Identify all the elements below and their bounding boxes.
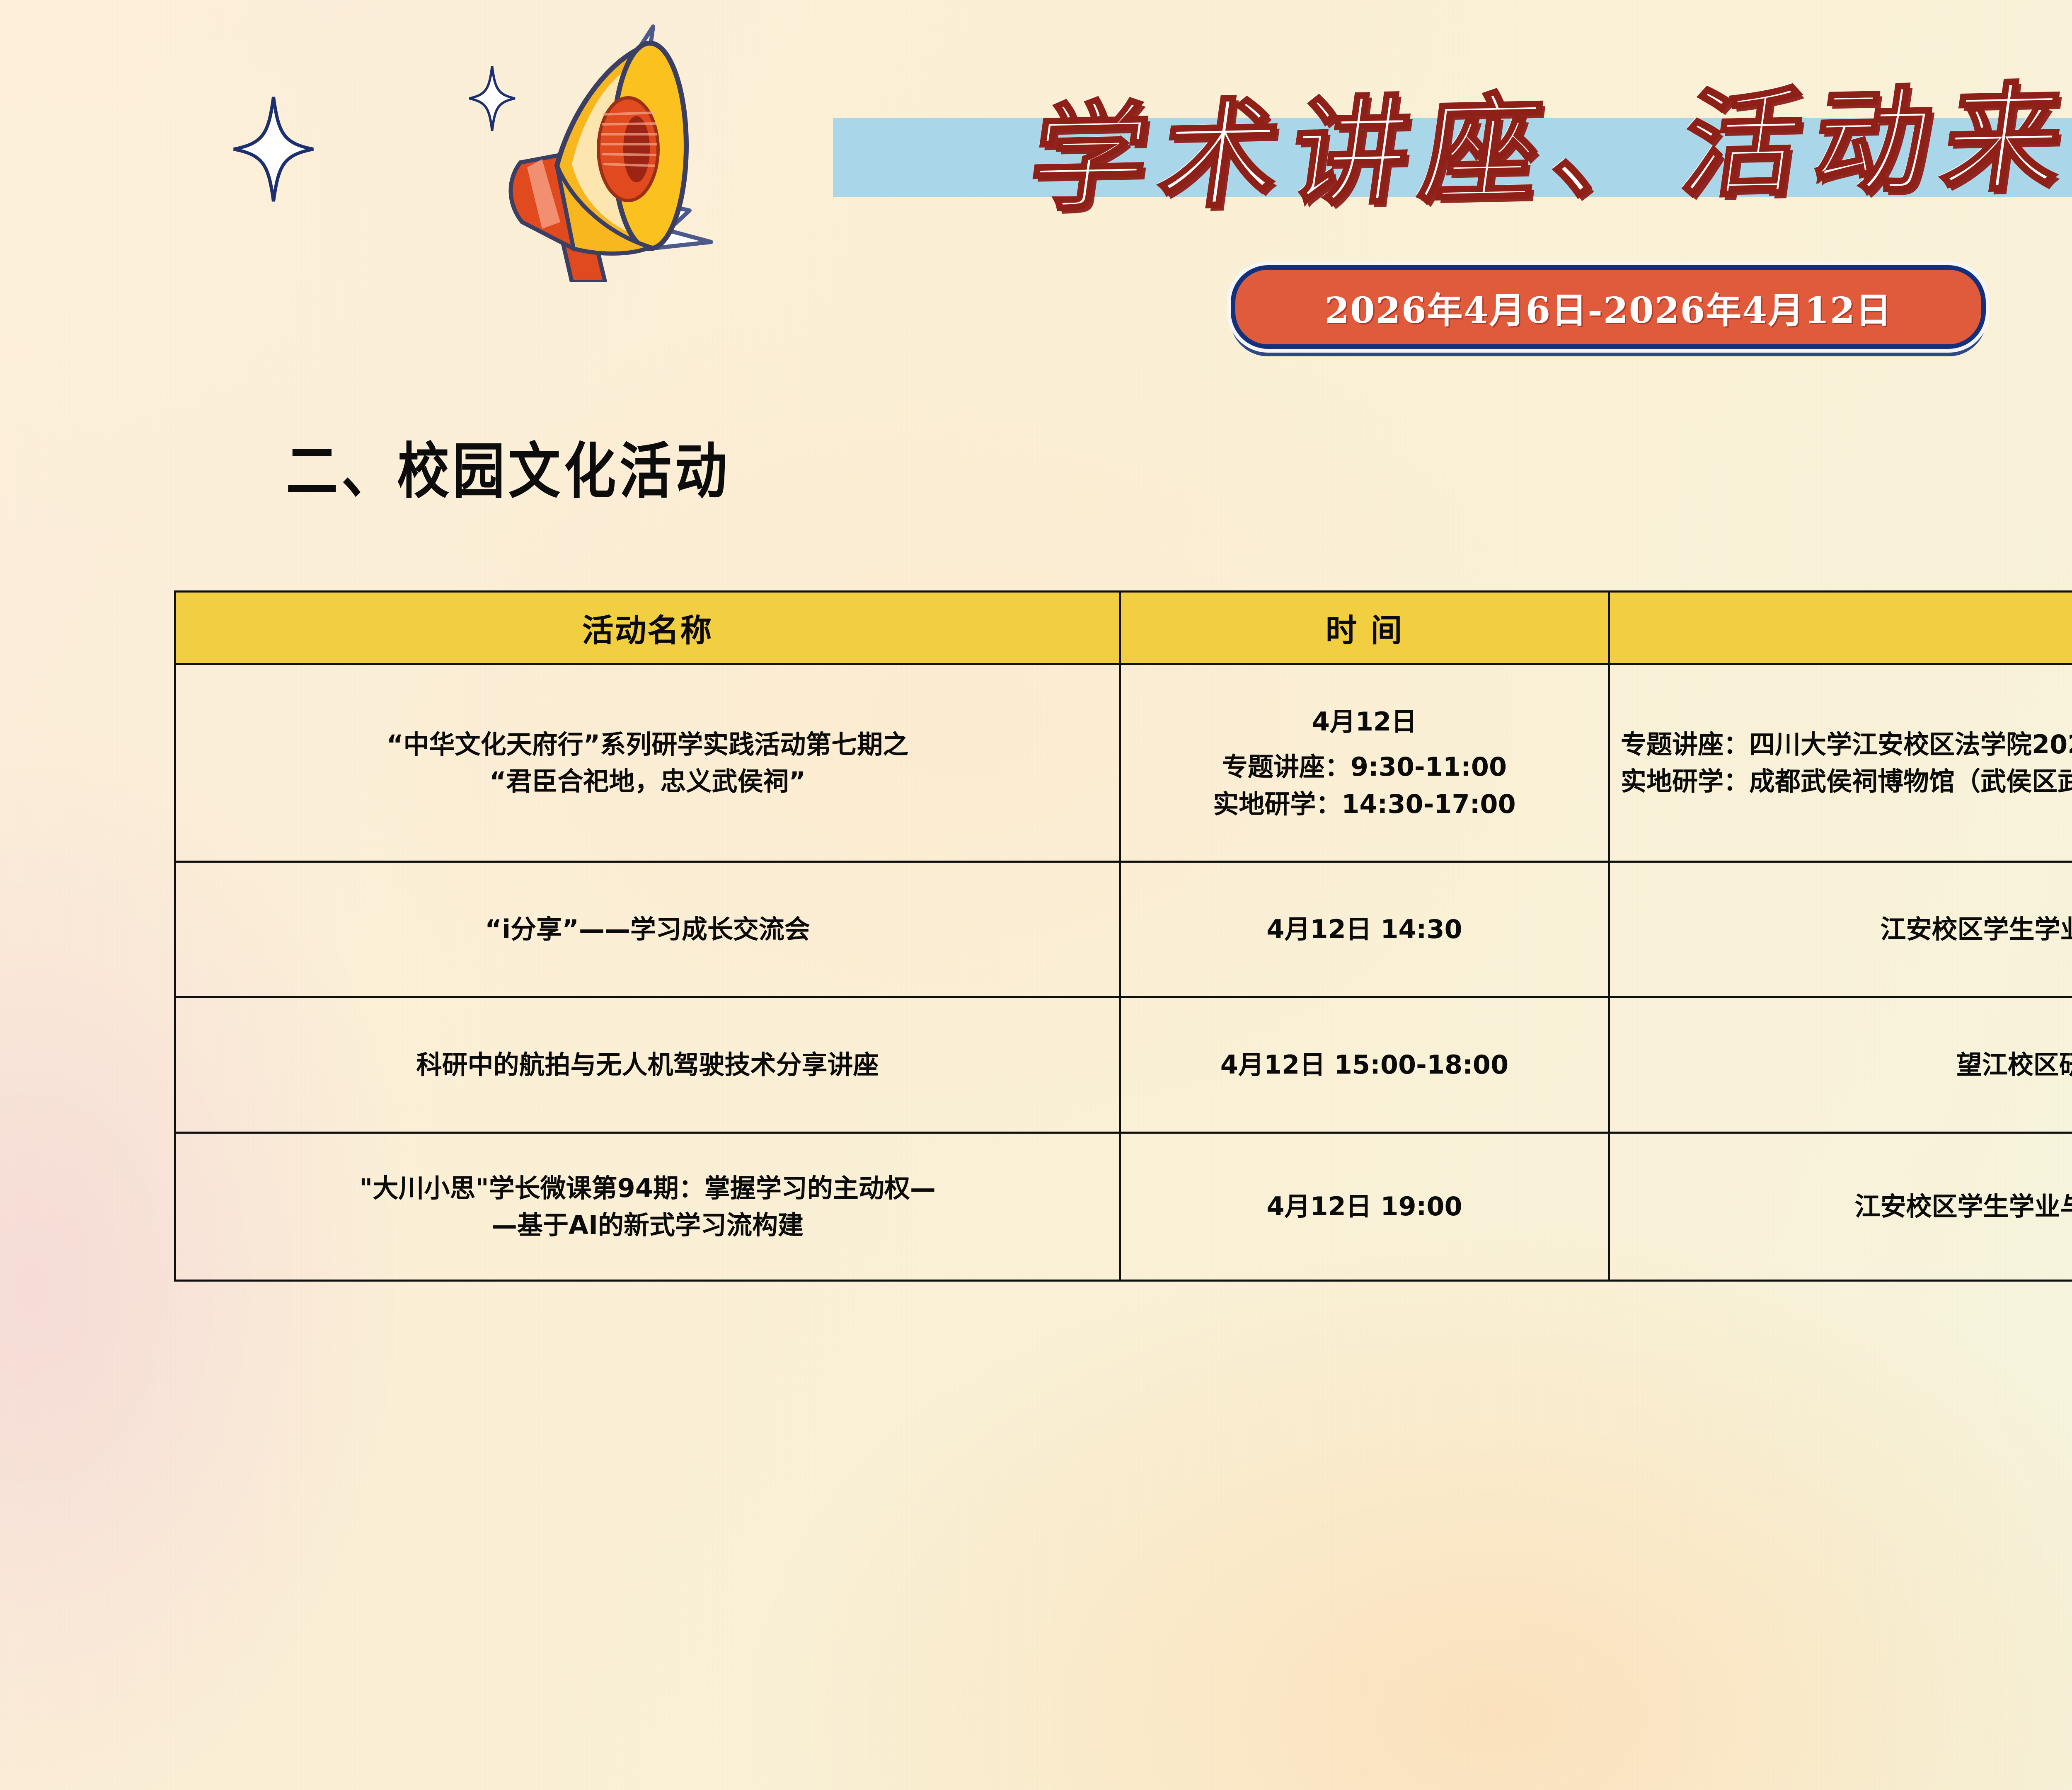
table-row: 科研中的航拍与无人机驾驶技术分享讲座 4月12日 15:00-18:00 望江校…: [175, 997, 2072, 1133]
title-block: 学术讲座、活动来啦: [812, 54, 2072, 220]
cell-location: 江安校区学生学业与发展支持中心一楼路演厅: [1609, 862, 2072, 997]
column-header-activity-name: 活动名称: [175, 592, 1120, 664]
megaphone-icon: [365, 8, 779, 273]
page-title: 学术讲座、活动来啦: [798, 37, 2072, 237]
table-row: “i分享”——学习成长交流会 4月12日 14:30 江安校区学生学业与发展支持…: [175, 862, 2072, 997]
cell-location: 专题讲座：四川大学江安校区法学院2022-1模拟仲裁庭 实地研学：成都武侯祠博物…: [1609, 664, 2072, 862]
cell-location: 江安校区学生学业与发展支持中心一楼致远报告厅: [1609, 1133, 2072, 1281]
section-heading: 二、校园文化活动: [286, 423, 731, 510]
activities-table-wrapper: 活动名称 时 间 地 点 主办单位 “中华文化天府行”系列研学实践活动第七期之 …: [174, 590, 2072, 1282]
table-row: "大川小思"学长微课第94期：掌握学习的主动权— —基于AI的新式学习流构建 4…: [175, 1133, 2072, 1281]
table-header-row: 活动名称 时 间 地 点 主办单位: [175, 592, 2072, 664]
cell-time: 4月12日 专题讲座：9:30-11:00 实地研学：14:30-17:00: [1120, 664, 1609, 862]
cell-location: 望江校区研究生院一区102教室: [1609, 997, 2072, 1133]
cell-time: 4月12日 14:30: [1120, 862, 1609, 997]
cell-activity-name: 科研中的航拍与无人机驾驶技术分享讲座: [175, 997, 1120, 1133]
cell-time: 4月12日 19:00: [1120, 1133, 1609, 1281]
sparkle-icon-large: [232, 95, 315, 203]
cell-activity-name: "大川小思"学长微课第94期：掌握学习的主动权— —基于AI的新式学习流构建: [175, 1133, 1120, 1281]
date-range-badge: 2026年4月6日-2026年4月12日: [1231, 265, 1986, 349]
column-header-location: 地 点: [1609, 592, 2072, 664]
activities-table: 活动名称 时 间 地 点 主办单位 “中华文化天府行”系列研学实践活动第七期之 …: [174, 590, 2072, 1282]
cell-activity-name: “i分享”——学习成长交流会: [175, 862, 1120, 997]
date-range-text: 2026年4月6日-2026年4月12日: [1324, 281, 1892, 333]
column-header-time: 时 间: [1120, 592, 1609, 664]
table-row: “中华文化天府行”系列研学实践活动第七期之 “君臣合祀地，忠义武侯祠” 4月12…: [175, 664, 2072, 862]
header-banner: 学术讲座、活动来啦: [0, 0, 2072, 398]
cell-activity-name: “中华文化天府行”系列研学实践活动第七期之 “君臣合祀地，忠义武侯祠”: [175, 664, 1120, 862]
cell-time: 4月12日 15:00-18:00: [1120, 997, 1609, 1133]
